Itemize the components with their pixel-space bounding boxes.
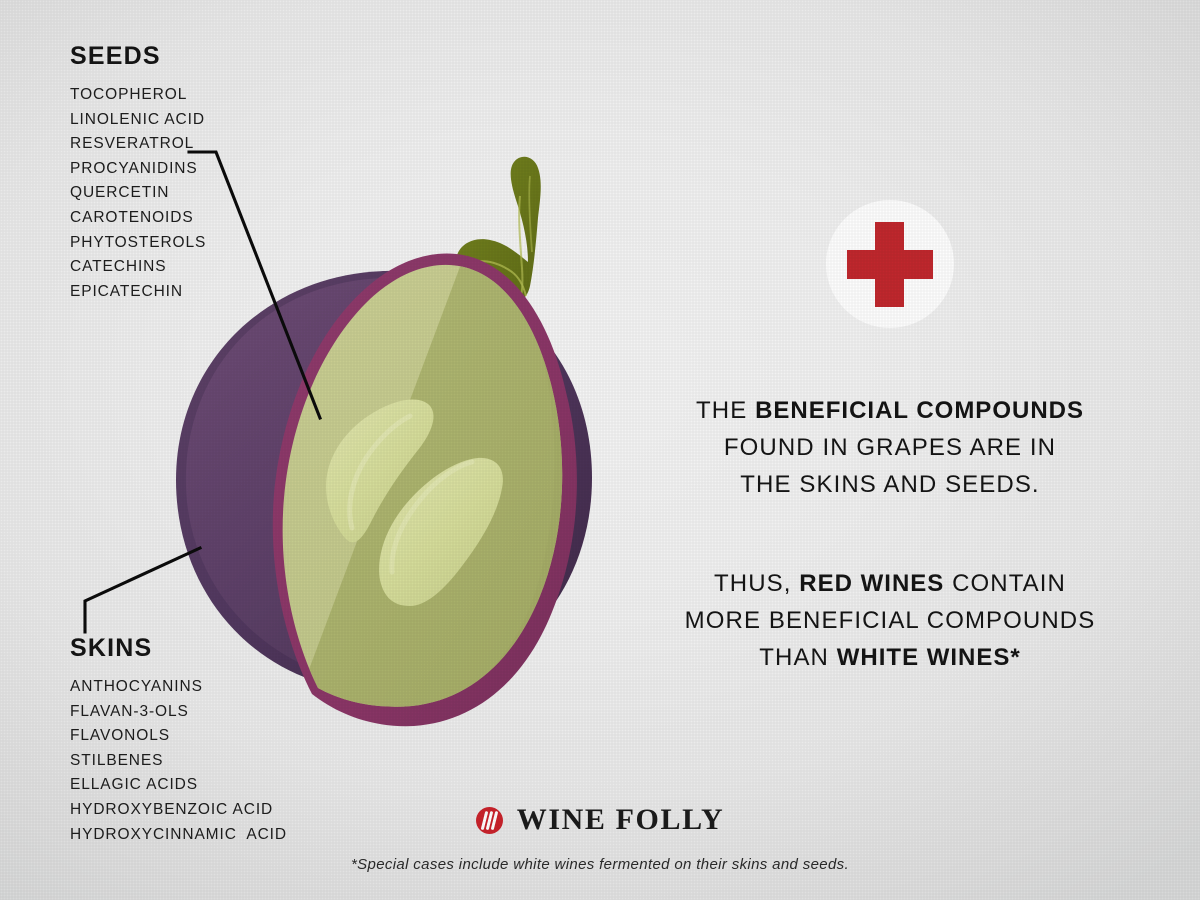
statement2-line3-bold: WHITE WINES* [837, 644, 1021, 671]
wine-folly-logo-icon [476, 807, 503, 834]
statement-beneficial-compounds: THE BENEFICIAL COMPOUNDS FOUND IN GRAPES… [660, 392, 1120, 503]
statement1-line3: THE SKINS AND SEEDS. [660, 466, 1120, 503]
list-item: FLAVAN-3-OLS [70, 700, 287, 725]
statement1-line1-plain: THE [696, 397, 755, 424]
list-item: ELLAGIC ACIDS [70, 773, 287, 798]
list-item: FLAVONOLS [70, 724, 287, 749]
statement1-line1-bold: BENEFICIAL COMPOUNDS [755, 397, 1084, 424]
list-item: CAROTENOIDS [70, 206, 206, 231]
list-item: EPICATECHIN [70, 280, 206, 305]
list-item: CATECHINS [70, 255, 206, 280]
footnote-text: *Special cases include white wines ferme… [0, 856, 1200, 873]
infographic-canvas: SEEDS TOCOPHEROL LINOLENIC ACID RESVERAT… [0, 0, 1200, 900]
wine-folly-wordmark: WINE FOLLY [517, 803, 724, 837]
seeds-compound-list: TOCOPHEROL LINOLENIC ACID RESVERATROL PR… [70, 83, 206, 304]
cross-vertical-bar [875, 222, 904, 307]
skins-heading: SKINS [70, 634, 152, 663]
seeds-heading: SEEDS [70, 42, 161, 71]
list-item: PROCYANIDINS [70, 157, 206, 182]
statement2-line1: THUS, RED WINES CONTAIN [660, 565, 1120, 602]
list-item: TOCOPHEROL [70, 83, 206, 108]
list-item: STILBENES [70, 749, 287, 774]
statement-red-vs-white: THUS, RED WINES CONTAIN MORE BENEFICIAL … [660, 565, 1120, 676]
list-item: LINOLENIC ACID [70, 108, 206, 133]
statement1-line2: FOUND IN GRAPES ARE IN [660, 429, 1120, 466]
list-item: ANTHOCYANINS [70, 675, 287, 700]
list-item: PHYTOSTEROLS [70, 231, 206, 256]
wine-folly-logo: WINE FOLLY [0, 803, 1200, 837]
list-item: RESVERATROL [70, 132, 206, 157]
statement2-line1-tail: CONTAIN [944, 570, 1066, 597]
statement1-line1: THE BENEFICIAL COMPOUNDS [660, 392, 1120, 429]
medical-cross-icon [826, 200, 954, 328]
statement2-line1-plain: THUS, [714, 570, 799, 597]
statement2-line3: THAN WHITE WINES* [660, 639, 1120, 676]
statement2-line3-plain: THAN [759, 644, 837, 671]
statement2-line1-bold: RED WINES [799, 570, 944, 597]
leader-line-skins [85, 548, 200, 632]
list-item: QUERCETIN [70, 181, 206, 206]
statement2-line2: MORE BENEFICIAL COMPOUNDS [660, 602, 1120, 639]
